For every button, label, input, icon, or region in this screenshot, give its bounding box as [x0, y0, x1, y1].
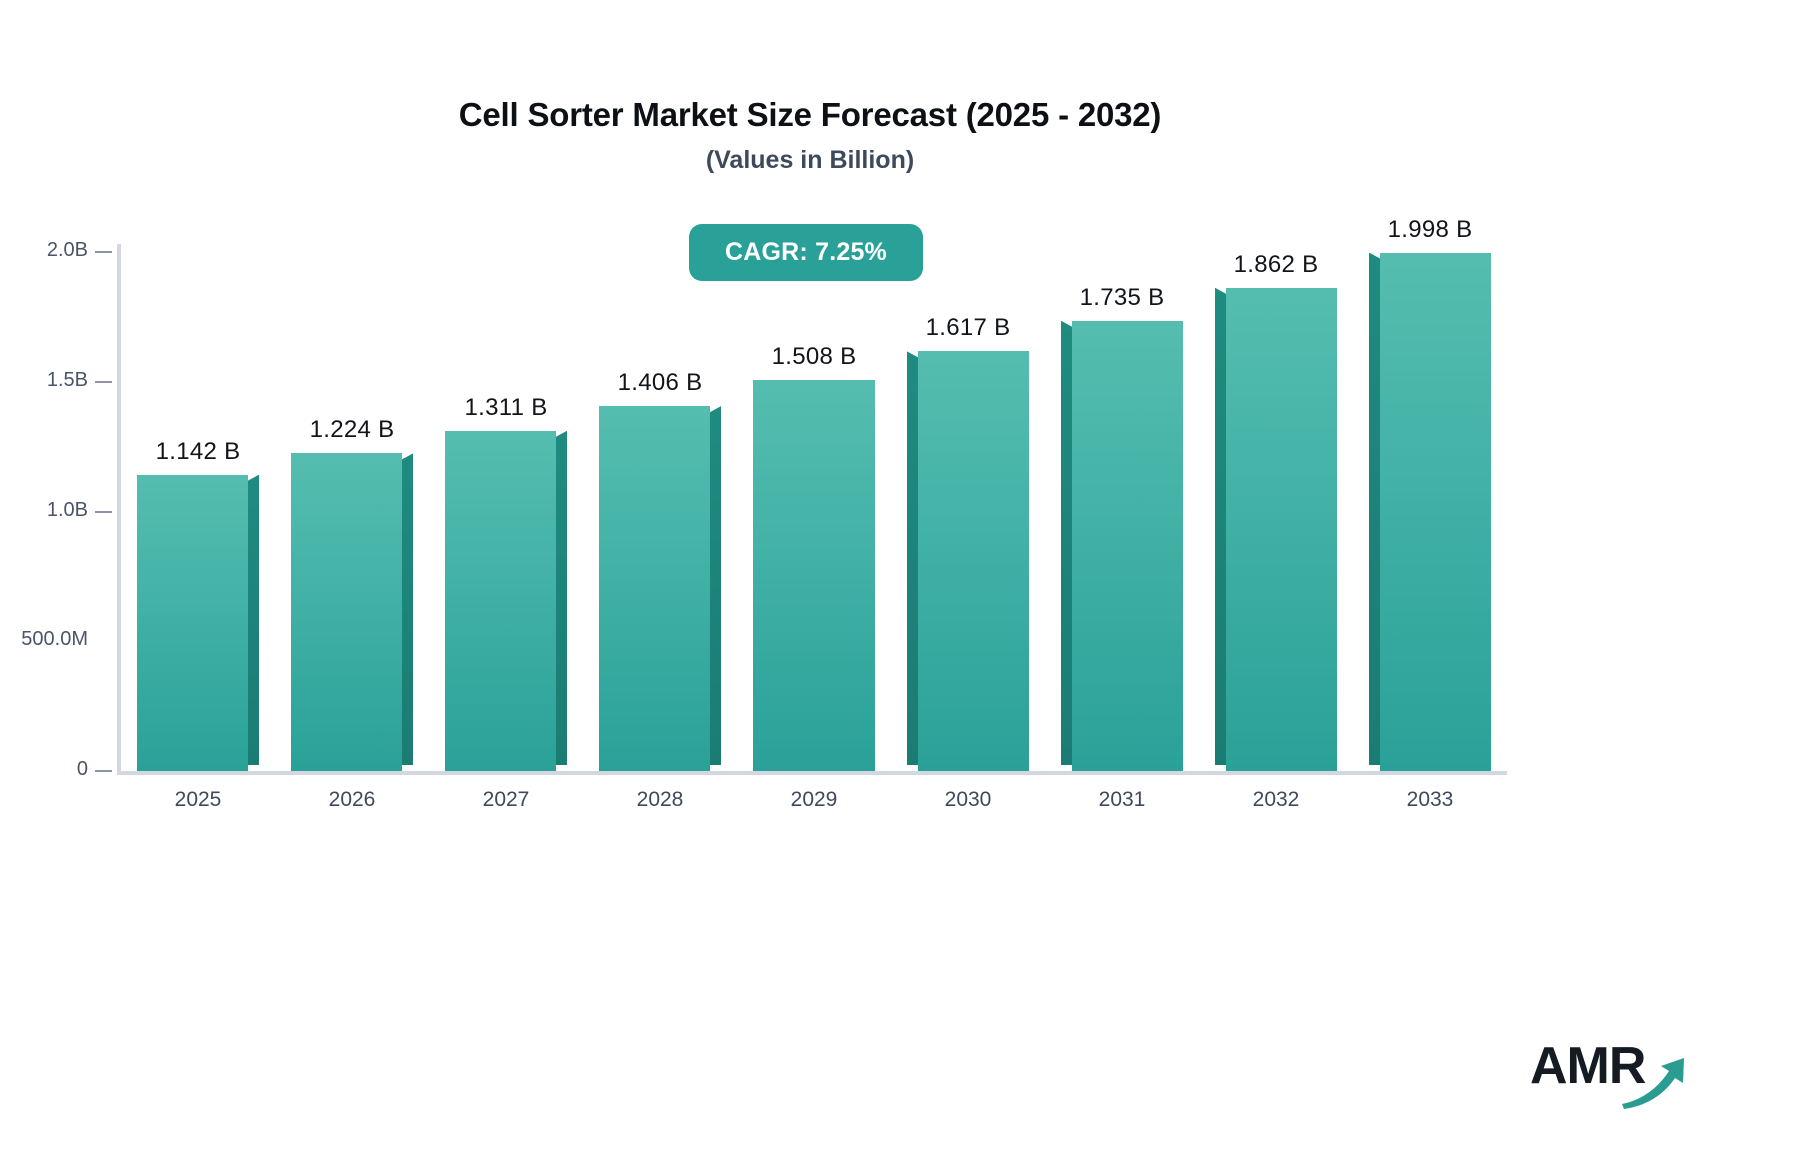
bar-front-face: [918, 351, 1029, 771]
bar-value-label: 1.406 B: [618, 369, 703, 397]
bar-front-face: [1226, 288, 1337, 771]
bar-2027[interactable]: [445, 431, 567, 771]
bar-2031[interactable]: [1061, 321, 1183, 771]
bar-value-label: 1.998 B: [1388, 216, 1473, 244]
bar-value-label: 1.617 B: [926, 314, 1011, 342]
bar-front-face: [137, 475, 248, 771]
growth-arrow-icon: [1530, 1038, 1690, 1112]
bar-value-label: 1.735 B: [1080, 284, 1165, 312]
bar-side-face: [248, 475, 259, 765]
bar-value-label: 1.224 B: [310, 416, 395, 444]
bar-side-face: [907, 351, 918, 765]
bar-2030[interactable]: [907, 351, 1029, 771]
bar-2028[interactable]: [599, 406, 721, 771]
amr-logo: AMR: [1530, 1038, 1690, 1112]
bar-2032[interactable]: [1215, 288, 1337, 771]
bar-front-face: [753, 380, 875, 771]
bar-front-face: [445, 431, 556, 771]
bar-side-face: [710, 406, 721, 765]
bar-side-face: [556, 431, 567, 765]
bar-side-face: [1369, 253, 1380, 765]
bar-front-face: [599, 406, 710, 771]
bar-side-face: [1061, 321, 1072, 765]
chart-canvas: Cell Sorter Market Size Forecast (2025 -…: [0, 0, 1800, 1156]
bar-series: 1.142 B1.224 B1.311 B1.406 B1.508 B1.617…: [0, 0, 1800, 1156]
bar-2029[interactable]: [753, 380, 875, 771]
bar-value-label: 1.862 B: [1234, 251, 1319, 279]
bar-side-face: [402, 453, 413, 765]
bar-value-label: 1.142 B: [156, 438, 241, 466]
bar-front-face: [291, 453, 402, 771]
bar-front-face: [1380, 253, 1491, 771]
bar-2026[interactable]: [291, 453, 413, 771]
bar-2025[interactable]: [137, 475, 259, 771]
bar-front-face: [1072, 321, 1183, 771]
bar-value-label: 1.311 B: [464, 394, 547, 422]
bar-side-face: [1215, 288, 1226, 765]
bar-2033[interactable]: [1369, 253, 1491, 771]
bar-value-label: 1.508 B: [772, 343, 857, 371]
